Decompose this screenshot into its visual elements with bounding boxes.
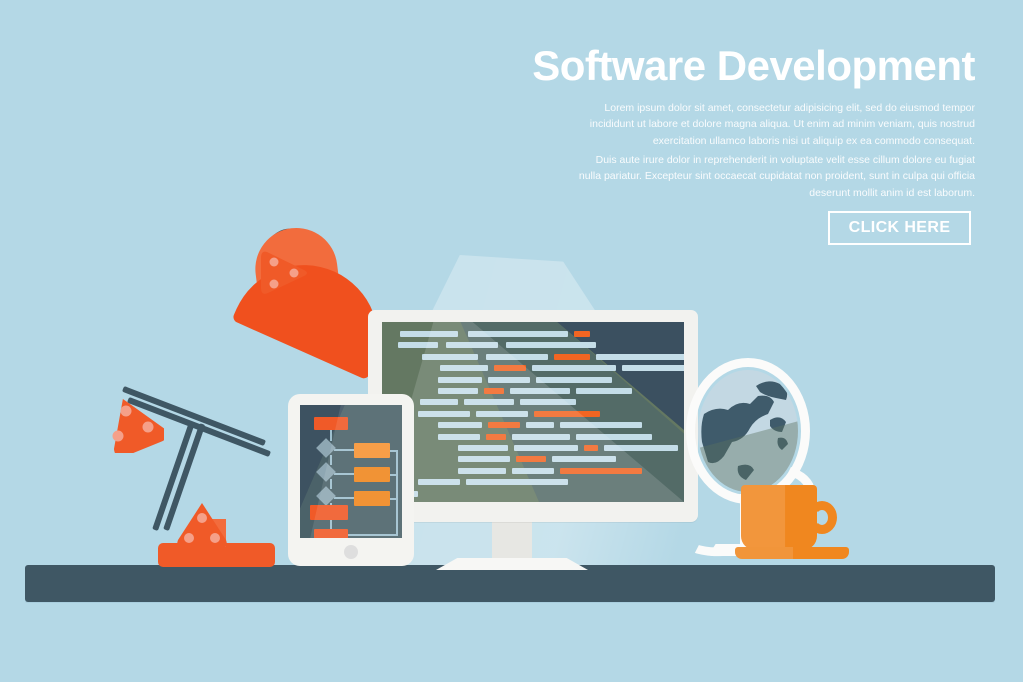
code-line-segment [576, 388, 632, 394]
flowchart-connector [330, 430, 332, 441]
monitor-stand-base [436, 558, 588, 570]
monitor-screen [382, 322, 684, 502]
code-line-segment [554, 354, 590, 360]
hero-paragraph-1: Lorem ipsum dolor sit amet, consectetur … [573, 100, 975, 149]
click-here-button[interactable]: CLICK HERE [828, 211, 971, 245]
lamp-base-joint [174, 500, 230, 550]
illustration-canvas: Software Development Lorem ipsum dolor s… [0, 0, 1023, 682]
hero-paragraph-2: Duis aute irure dolor in reprehenderit i… [573, 152, 975, 201]
coffee-cup[interactable] [735, 483, 850, 569]
tablet-device[interactable] [288, 394, 414, 566]
lamp-elbow-joint [102, 395, 164, 453]
code-line-segment [532, 365, 616, 371]
saucer-highlight [735, 547, 793, 559]
code-line-segment [536, 377, 612, 383]
code-line-segment [574, 331, 590, 337]
tablet-home-button[interactable] [344, 545, 358, 559]
page-title: Software Development [430, 45, 975, 87]
monitor-stand-column [492, 522, 532, 562]
tablet-screen [300, 405, 402, 538]
lamp-head-joint [258, 248, 310, 298]
code-line-segment [506, 342, 596, 348]
